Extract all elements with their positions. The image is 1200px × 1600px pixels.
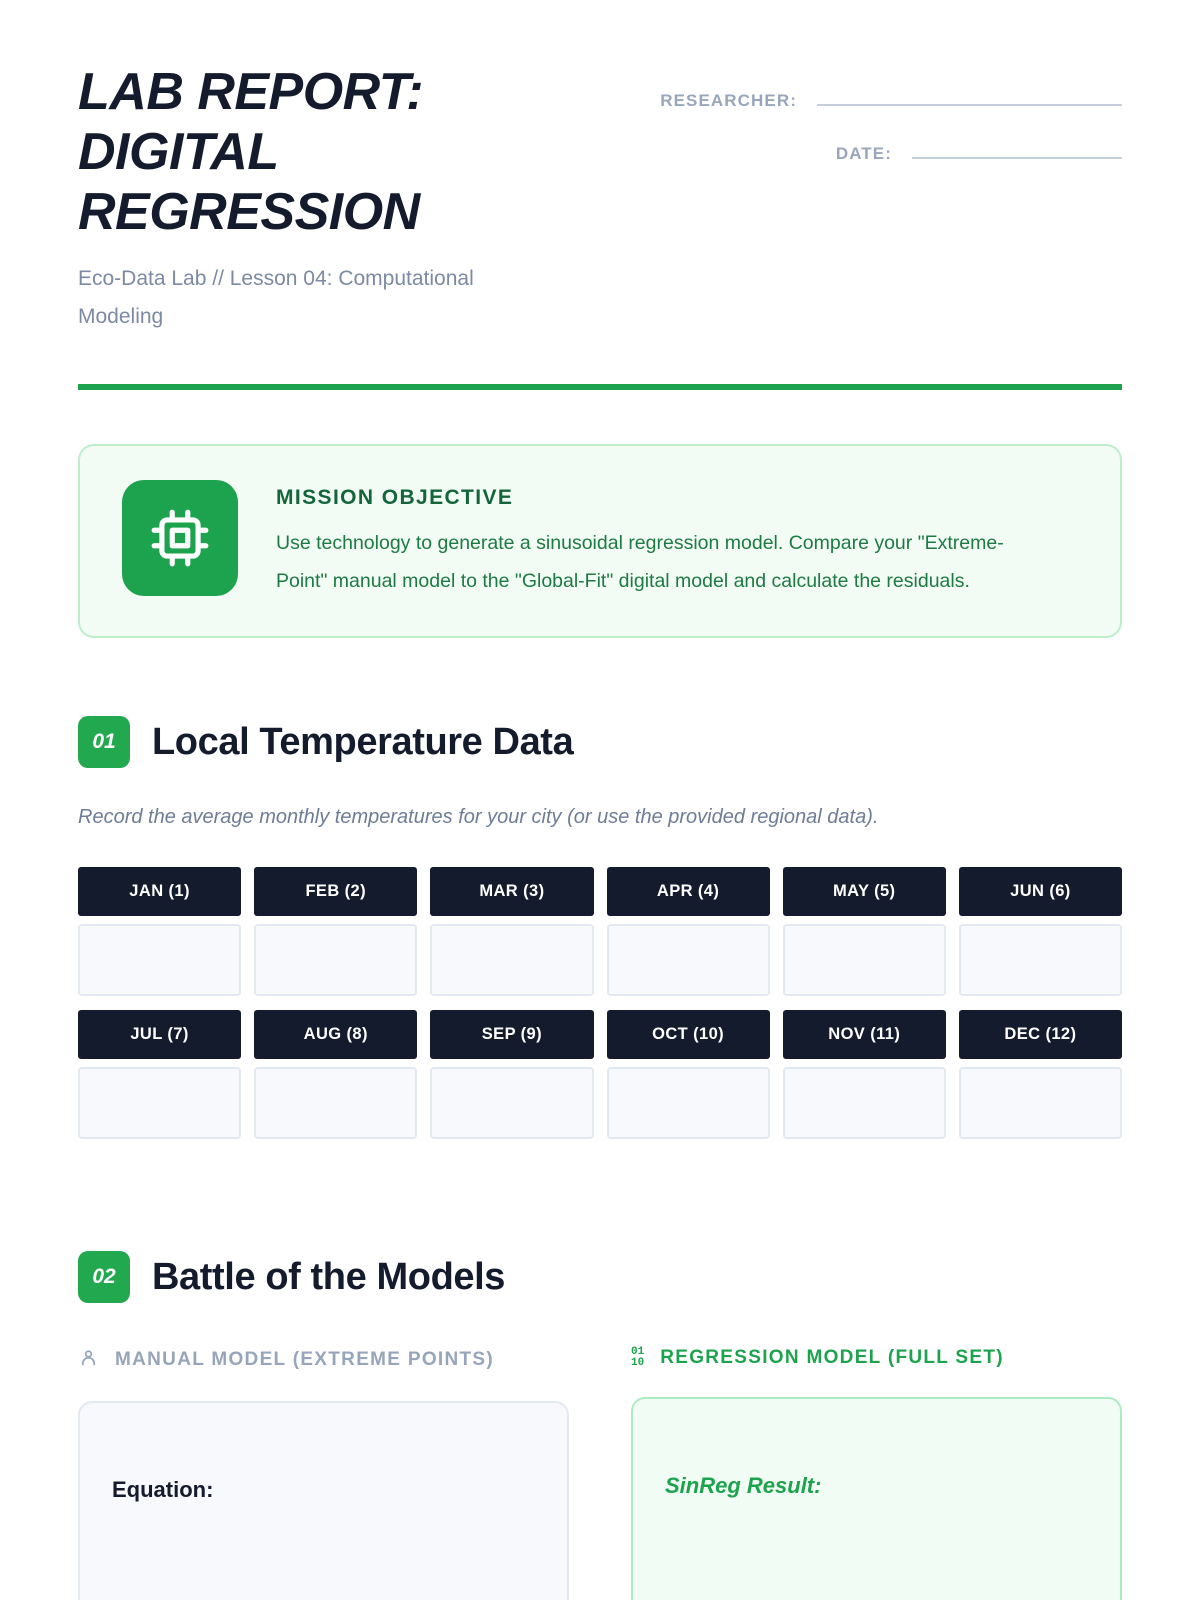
regression-model-heading: 01 10 REGRESSION MODEL (FULL SET) [631, 1347, 1122, 1369]
mission-objective-card: MISSION OBJECTIVE Use technology to gene… [78, 444, 1122, 638]
month-header-cell: NOV (11) [783, 1010, 946, 1059]
microchip-icon [122, 480, 238, 596]
regression-model-label: REGRESSION MODEL (FULL SET) [660, 1347, 1004, 1369]
month-input-cell[interactable] [430, 1067, 593, 1139]
month-input-cell[interactable] [254, 924, 417, 996]
manual-model-heading: MANUAL MODEL (EXTREME POINTS) [78, 1347, 569, 1373]
section-badge-02: 02 [78, 1251, 130, 1303]
section-description-01: Record the average monthly temperatures … [78, 806, 1122, 829]
equation-label: Equation: [112, 1477, 535, 1503]
manual-model-card[interactable]: Equation: [78, 1401, 569, 1600]
section-title-02: Battle of the Models [152, 1256, 505, 1299]
regression-model-column: 01 10 REGRESSION MODEL (FULL SET) SinReg… [631, 1347, 1122, 1600]
binary-icon-bottom: 10 [631, 1357, 644, 1369]
month-input-cell[interactable] [783, 1067, 946, 1139]
month-input-cell[interactable] [78, 924, 241, 996]
regression-model-card[interactable]: SinReg Result: [631, 1397, 1122, 1600]
month-header-cell: SEP (9) [430, 1010, 593, 1059]
section-header-01: 01 Local Temperature Data [78, 716, 1122, 768]
researcher-input[interactable] [817, 84, 1122, 106]
mission-body: MISSION OBJECTIVE Use technology to gene… [276, 480, 1036, 600]
header-fields: RESEARCHER: DATE: [612, 62, 1122, 190]
month-header-cell: AUG (8) [254, 1010, 417, 1059]
document-header: LAB REPORT: DIGITAL REGRESSION Eco-Data … [78, 62, 1122, 336]
header-left: LAB REPORT: DIGITAL REGRESSION Eco-Data … [78, 62, 578, 336]
month-input-cell[interactable] [78, 1067, 241, 1139]
month-header-cell: DEC (12) [959, 1010, 1122, 1059]
monthly-temperature-grid: JAN (1) FEB (2) MAR (3) APR (4) MAY (5) … [78, 867, 1122, 1153]
month-input-cell[interactable] [607, 924, 770, 996]
month-header-cell: APR (4) [607, 867, 770, 916]
mission-title: MISSION OBJECTIVE [276, 486, 1036, 510]
manual-model-label: MANUAL MODEL (EXTREME POINTS) [115, 1349, 494, 1371]
page-title: LAB REPORT: DIGITAL REGRESSION [78, 62, 498, 242]
month-input-cell[interactable] [783, 924, 946, 996]
mission-text: Use technology to generate a sinusoidal … [276, 524, 1036, 600]
month-header-cell: MAR (3) [430, 867, 593, 916]
month-header-cell: FEB (2) [254, 867, 417, 916]
binary-icon: 01 10 [631, 1347, 644, 1369]
page-subtitle: Eco-Data Lab // Lesson 04: Computational… [78, 260, 478, 336]
month-header-cell: MAY (5) [783, 867, 946, 916]
sinreg-result-label: SinReg Result: [665, 1473, 1088, 1499]
researcher-label: RESEARCHER: [660, 91, 797, 111]
month-header-cell: JUN (6) [959, 867, 1122, 916]
section-header-02: 02 Battle of the Models [78, 1251, 1122, 1303]
month-header-cell: JAN (1) [78, 867, 241, 916]
date-input[interactable] [912, 137, 1122, 159]
researcher-field-row: RESEARCHER: [612, 84, 1122, 111]
date-label: DATE: [836, 144, 892, 164]
section-badge-01: 01 [78, 716, 130, 768]
month-header-cell: JUL (7) [78, 1010, 241, 1059]
month-input-cell[interactable] [959, 924, 1122, 996]
person-icon [78, 1347, 99, 1373]
month-header-cell: OCT (10) [607, 1010, 770, 1059]
month-input-cell[interactable] [254, 1067, 417, 1139]
section-title-01: Local Temperature Data [152, 721, 573, 764]
lab-report-page: LAB REPORT: DIGITAL REGRESSION Eco-Data … [0, 0, 1200, 1600]
manual-model-column: MANUAL MODEL (EXTREME POINTS) Equation: [78, 1347, 569, 1600]
month-input-cell[interactable] [959, 1067, 1122, 1139]
date-field-row: DATE: [612, 137, 1122, 164]
models-comparison: MANUAL MODEL (EXTREME POINTS) Equation: … [78, 1347, 1122, 1600]
month-input-cell[interactable] [430, 924, 593, 996]
month-input-cell[interactable] [607, 1067, 770, 1139]
header-divider [78, 384, 1122, 390]
